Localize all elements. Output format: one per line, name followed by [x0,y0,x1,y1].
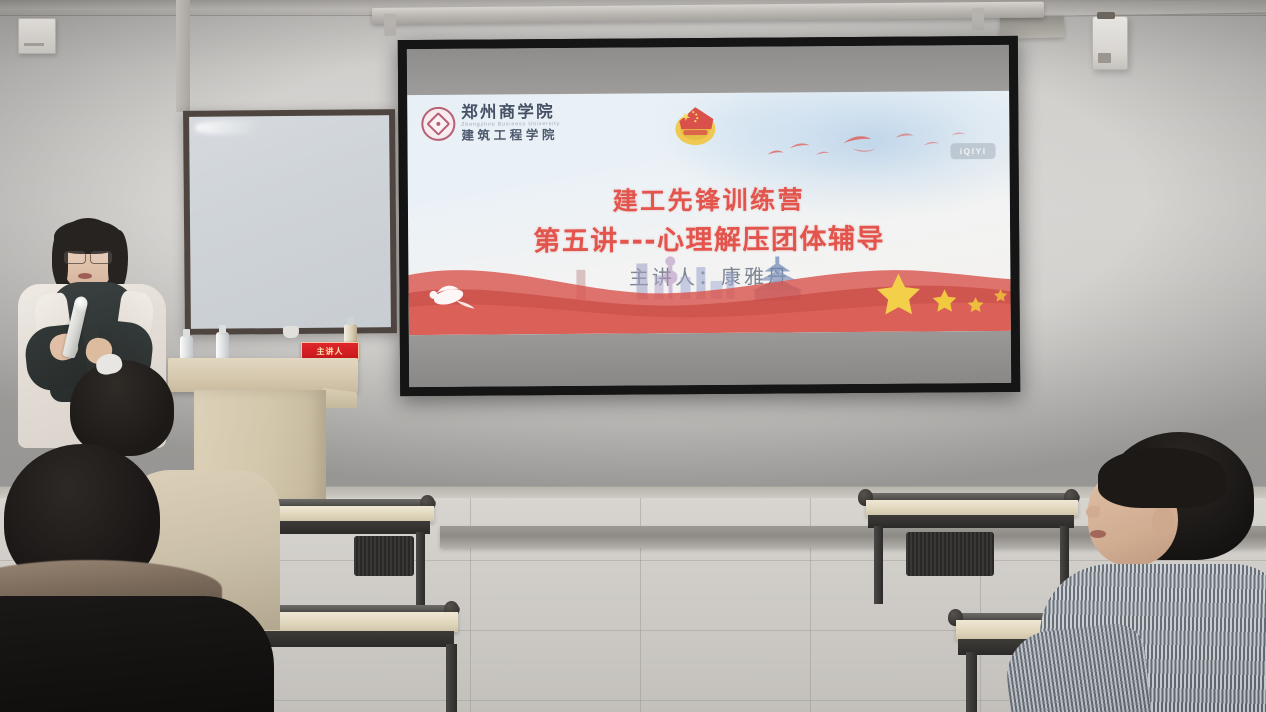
audience-hair-front [1098,448,1226,508]
roller-bracket-icon [972,8,984,30]
door-frame [176,0,190,112]
audience-mouth [1090,530,1106,538]
college-name-cn: 建筑工程学院 [461,129,560,142]
whiteboard-glare [195,120,273,135]
ac-unit-icon [1092,16,1128,70]
roller-bracket-icon [384,14,396,36]
presenter-mouth [78,273,92,279]
iqiyi-watermark-icon: iQIYI [951,143,996,159]
desk-leg [874,526,883,604]
communist-youth-league-emblem-icon [669,99,721,147]
university-logo: 郑州商学院 Zhengzhou Business University 建筑工程… [421,104,560,143]
audience-nose [1086,506,1100,518]
audience-member-front-left [0,420,264,712]
glasses-icon [63,251,113,263]
audience-ear [1152,506,1174,536]
projection-screen-surface: 郑州商学院 Zhengzhou Business University 建筑工程… [407,45,1011,387]
projection-screen[interactable]: 郑州商学院 Zhengzhou Business University 建筑工程… [398,36,1020,396]
slide-decoration-band [408,245,1011,335]
whiteboard-knob [283,326,299,338]
desk-leg [446,644,457,712]
presenter-hair-front [54,220,122,254]
whiteboard[interactable] [183,109,397,335]
chair-back[interactable] [354,536,414,576]
desk-apron [868,515,1074,528]
slide-title-line-1: 建工先锋训练营 [408,179,1010,219]
letterbox-bottom [409,331,1011,387]
wall-box-icon [18,18,56,54]
desk-top [866,500,1078,516]
audience-member-right [1048,432,1266,712]
university-name-en: Zhengzhou Business University [461,122,560,128]
university-logo-text: 郑州商学院 Zhengzhou Business University 建筑工程… [461,104,560,143]
chair-back[interactable] [906,532,994,576]
desk-leg [416,532,425,610]
university-name-cn: 郑州商学院 [461,104,560,122]
audience-body [0,596,274,712]
desk-leg [966,652,977,712]
lecture-hall-scene: 郑州商学院 Zhengzhou Business University 建筑工程… [0,0,1266,712]
presentation-slide: 郑州商学院 Zhengzhou Business University 建筑工程… [407,91,1011,335]
letterbox-top [407,45,1009,95]
university-seal-icon [421,107,455,141]
